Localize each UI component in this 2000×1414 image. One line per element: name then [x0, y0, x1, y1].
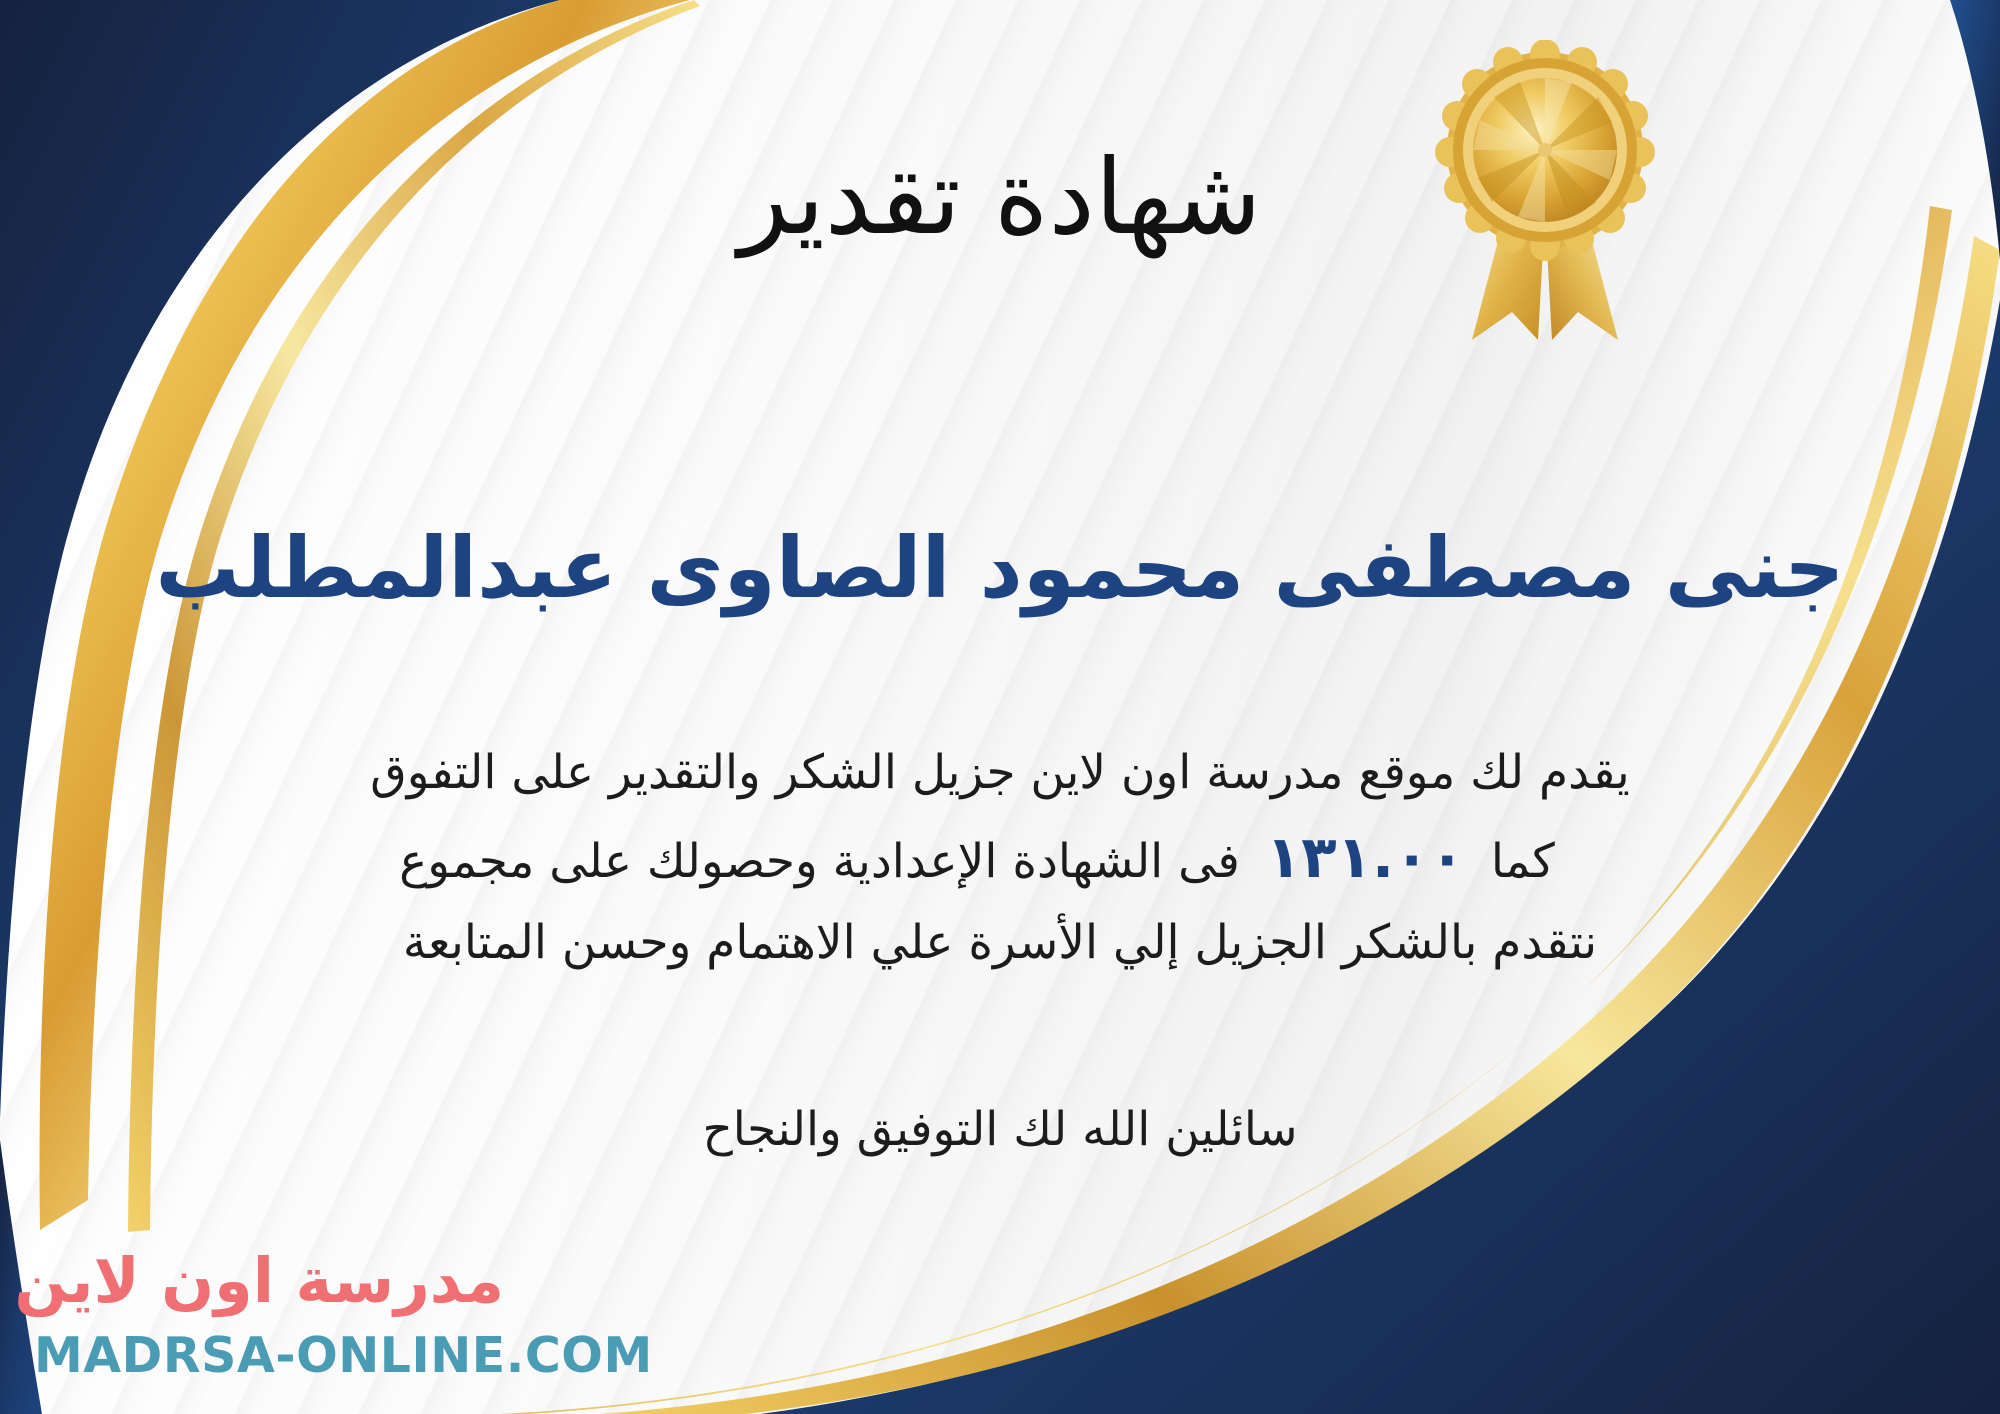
certificate-title: شهادة تقدير: [0, 140, 2000, 254]
certificate-body: يقدم لك موقع مدرسة اون لاين جزيل الشكر و…: [120, 735, 1880, 981]
total-score-value: ١٣١.٠٠: [1240, 811, 1491, 905]
student-name: جنى مصطفى محمود الصاوى عبدالمطلب: [0, 520, 2000, 617]
closing-wish: سائلين الله لك التوفيق والنجاح: [0, 1095, 2000, 1166]
body-line-2: كما ١٣١.٠٠ فى الشهادة الإعدادية وحصولك ع…: [120, 811, 1880, 905]
site-logo[interactable]: مدرسة اون لاين MADRSA-ONLINE.COM: [34, 1239, 504, 1380]
body-line-2-suffix: كما: [1491, 824, 1601, 900]
body-line-2-prefix: فى الشهادة الإعدادية وحصولك على مجموع: [399, 824, 1240, 900]
network-nodes-icon: [0, 1239, 4, 1323]
logo-arabic-name: مدرسة اون لاين: [14, 1250, 504, 1312]
certificate-page: شهادة تقدير جنى مصطفى محمود الصاوى عبدال…: [0, 0, 2000, 1414]
certificate-content: شهادة تقدير جنى مصطفى محمود الصاوى عبدال…: [0, 0, 2000, 1414]
logo-website-url[interactable]: MADRSA-ONLINE.COM: [34, 1331, 504, 1380]
body-line-1: يقدم لك موقع مدرسة اون لاين جزيل الشكر و…: [120, 735, 1880, 811]
logo-top-row: مدرسة اون لاين: [34, 1239, 504, 1323]
body-line-3: نتقدم بالشكر الجزيل إلي الأسرة علي الاهت…: [120, 905, 1880, 981]
